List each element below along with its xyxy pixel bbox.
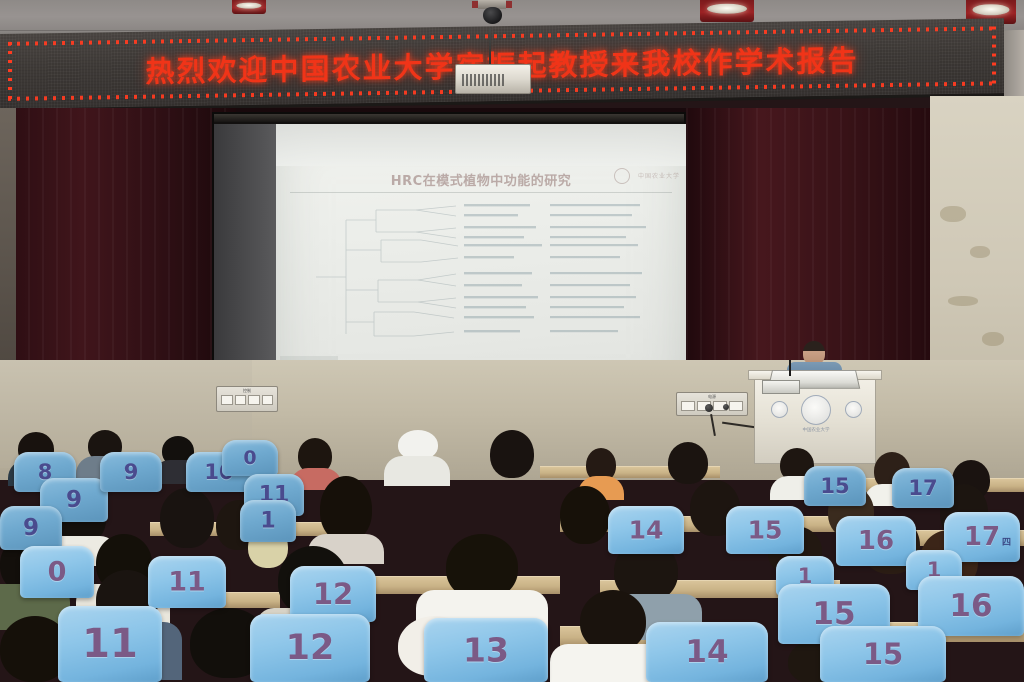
seat-number: 15 <box>726 516 804 545</box>
seat-number: 1 <box>240 509 296 534</box>
row-marker: 四 <box>1002 535 1011 548</box>
seat-number: 15 <box>804 474 866 498</box>
podium-emblem-side-icon <box>771 401 788 418</box>
podium-microphone <box>789 360 791 376</box>
seat[interactable]: 0 <box>20 546 94 598</box>
wall-panel-left-label: 控制 <box>243 388 251 394</box>
seat[interactable]: 14 <box>646 622 768 682</box>
audience-seating: 8999100111011111212131415161715171115161… <box>0 430 1024 682</box>
podium-second-laptop <box>762 380 800 394</box>
seat[interactable]: 9 <box>100 452 162 492</box>
seat[interactable]: 17 <box>892 468 954 508</box>
seat[interactable]: 15 <box>820 626 946 682</box>
seat-number: 15 <box>820 637 946 671</box>
seat[interactable]: 16 <box>836 516 916 566</box>
seat-number: 9 <box>100 460 162 484</box>
university-logo-icon <box>614 168 630 184</box>
seat-number: 11 <box>58 621 162 667</box>
seat[interactable]: 11 <box>148 556 226 608</box>
phylogenetic-tree-diagram <box>306 202 656 352</box>
seat-number: 14 <box>608 516 684 545</box>
seat-number: 11 <box>148 567 226 598</box>
seat-number: 16 <box>836 526 916 556</box>
wall-control-panel-left[interactable]: 控制 <box>216 386 278 412</box>
seat-number: 12 <box>290 577 376 611</box>
slide-header-band <box>276 124 686 166</box>
lecture-hall-photo: 热烈欢迎中国农业大学宿振起教授来我校作学术报告 HRC在模式植物中功能的研究 中… <box>0 0 1024 682</box>
wall-panel-right-label: 电源 <box>708 394 716 400</box>
podium-emblem-side-icon <box>845 401 862 418</box>
ceiling-light <box>700 0 754 22</box>
seat[interactable]: 9 <box>0 506 62 550</box>
slide-divider <box>290 192 672 193</box>
seat[interactable]: 1 <box>240 500 296 542</box>
seat[interactable]: 12 <box>250 614 370 682</box>
seat-number: 13 <box>424 631 548 670</box>
seat[interactable]: 15 <box>804 466 866 506</box>
slide-org-label: 中国农业大学 <box>638 171 680 180</box>
podium-emblem-icon <box>801 395 831 425</box>
seat-number: 12 <box>250 628 370 668</box>
seat[interactable]: 11 <box>58 606 162 682</box>
seat-number: 0 <box>222 447 278 469</box>
wall-control-panel-right[interactable]: 电源 <box>676 392 748 416</box>
seat[interactable]: 13 <box>424 618 548 682</box>
seat-number: 14 <box>646 634 768 670</box>
hanging-microphone <box>455 64 531 94</box>
panel-knob-icon[interactable] <box>723 404 729 410</box>
ceiling-light <box>232 0 266 14</box>
seat-number: 0 <box>20 557 94 588</box>
seat[interactable]: 15 <box>726 506 804 554</box>
seat[interactable]: 0 <box>222 440 278 476</box>
seat[interactable]: 14 <box>608 506 684 554</box>
seat-number: 16 <box>918 588 1024 624</box>
seat-number: 17 <box>892 476 954 500</box>
seat-number: 9 <box>0 515 62 541</box>
screen-top-bar <box>214 114 684 122</box>
panel-knob-icon[interactable] <box>705 404 713 412</box>
